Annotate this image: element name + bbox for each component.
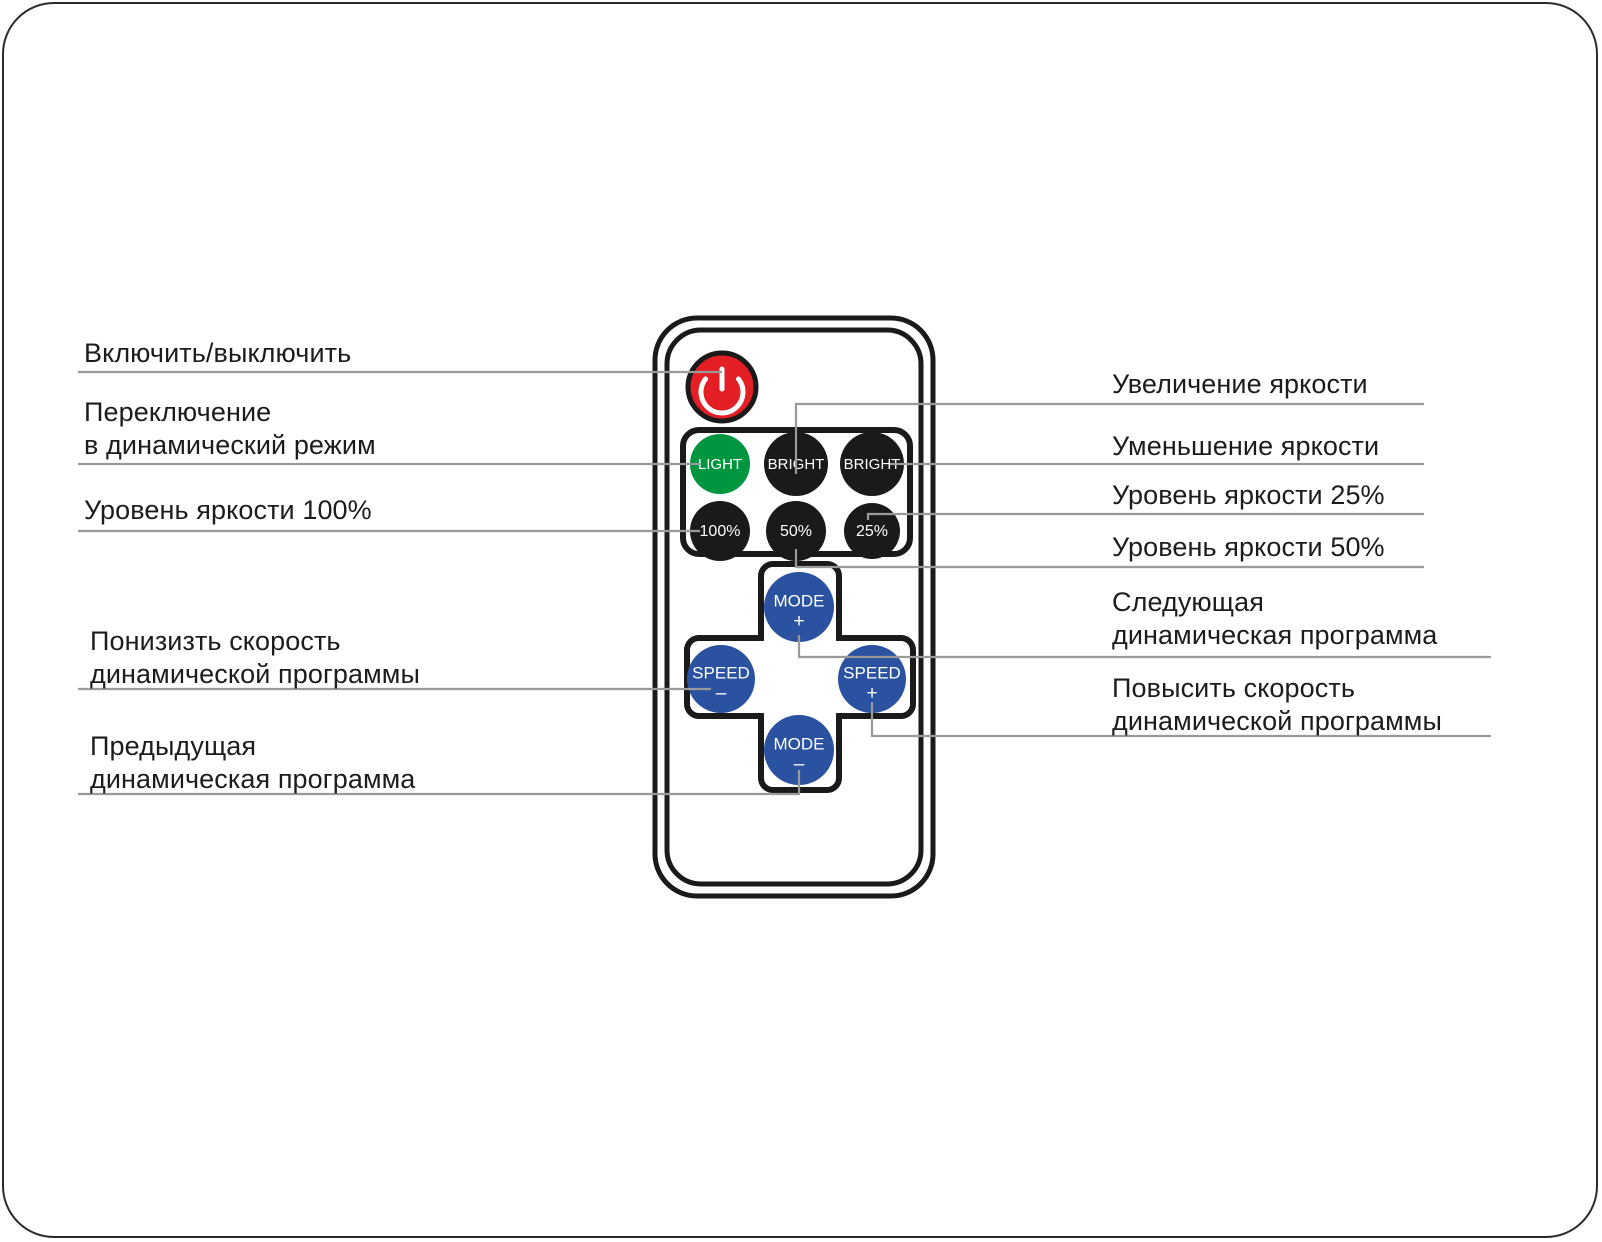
speed-plus-button-sublabel: + xyxy=(866,683,877,704)
diagram-canvas: LIGHT BRIGHT BRIGHT 100% 50% 25% MODE + … xyxy=(0,0,1602,1242)
callout-speed-minus-label: Понизизть скорость динамической программ… xyxy=(90,625,610,691)
callout-bright-down-label: Уменьшение яркости xyxy=(1112,430,1512,463)
callout-mode-minus-label: Предыдущая динамическая программа xyxy=(90,730,610,796)
level-100-button-label: 100% xyxy=(700,523,741,540)
speed-minus-button-sublabel: – xyxy=(716,683,727,704)
callout-mode-plus-label: Следующая динамическая программа xyxy=(1112,586,1512,652)
speed-plus-button-label: SPEED xyxy=(843,663,901,682)
mode-plus-button-sublabel: + xyxy=(793,611,804,632)
callout-bright-up-label: Увеличение яркости xyxy=(1112,368,1512,401)
level-50-button-label: 50% xyxy=(780,523,812,540)
speed-minus-button-label: SPEED xyxy=(692,663,750,682)
callout-level50-label: Уровень яркости 50% xyxy=(1112,531,1512,564)
light-button-label: LIGHT xyxy=(698,456,742,473)
level-25-button-label: 25% xyxy=(856,523,888,540)
callout-speed-plus-label: Повысить скорость динамической программы xyxy=(1112,672,1512,738)
callout-power-label: Включить/выключить xyxy=(84,337,604,370)
power-button[interactable] xyxy=(688,353,756,421)
callout-light-label: Переключение в динамический режим xyxy=(84,396,604,462)
callout-level100-label: Уровень яркости 100% xyxy=(84,494,604,527)
callout-level25-label: Уровень яркости 25% xyxy=(1112,479,1512,512)
mode-plus-button-label: MODE xyxy=(774,591,825,610)
mode-minus-button-label: MODE xyxy=(774,734,825,753)
leader-level25 xyxy=(868,514,1424,520)
